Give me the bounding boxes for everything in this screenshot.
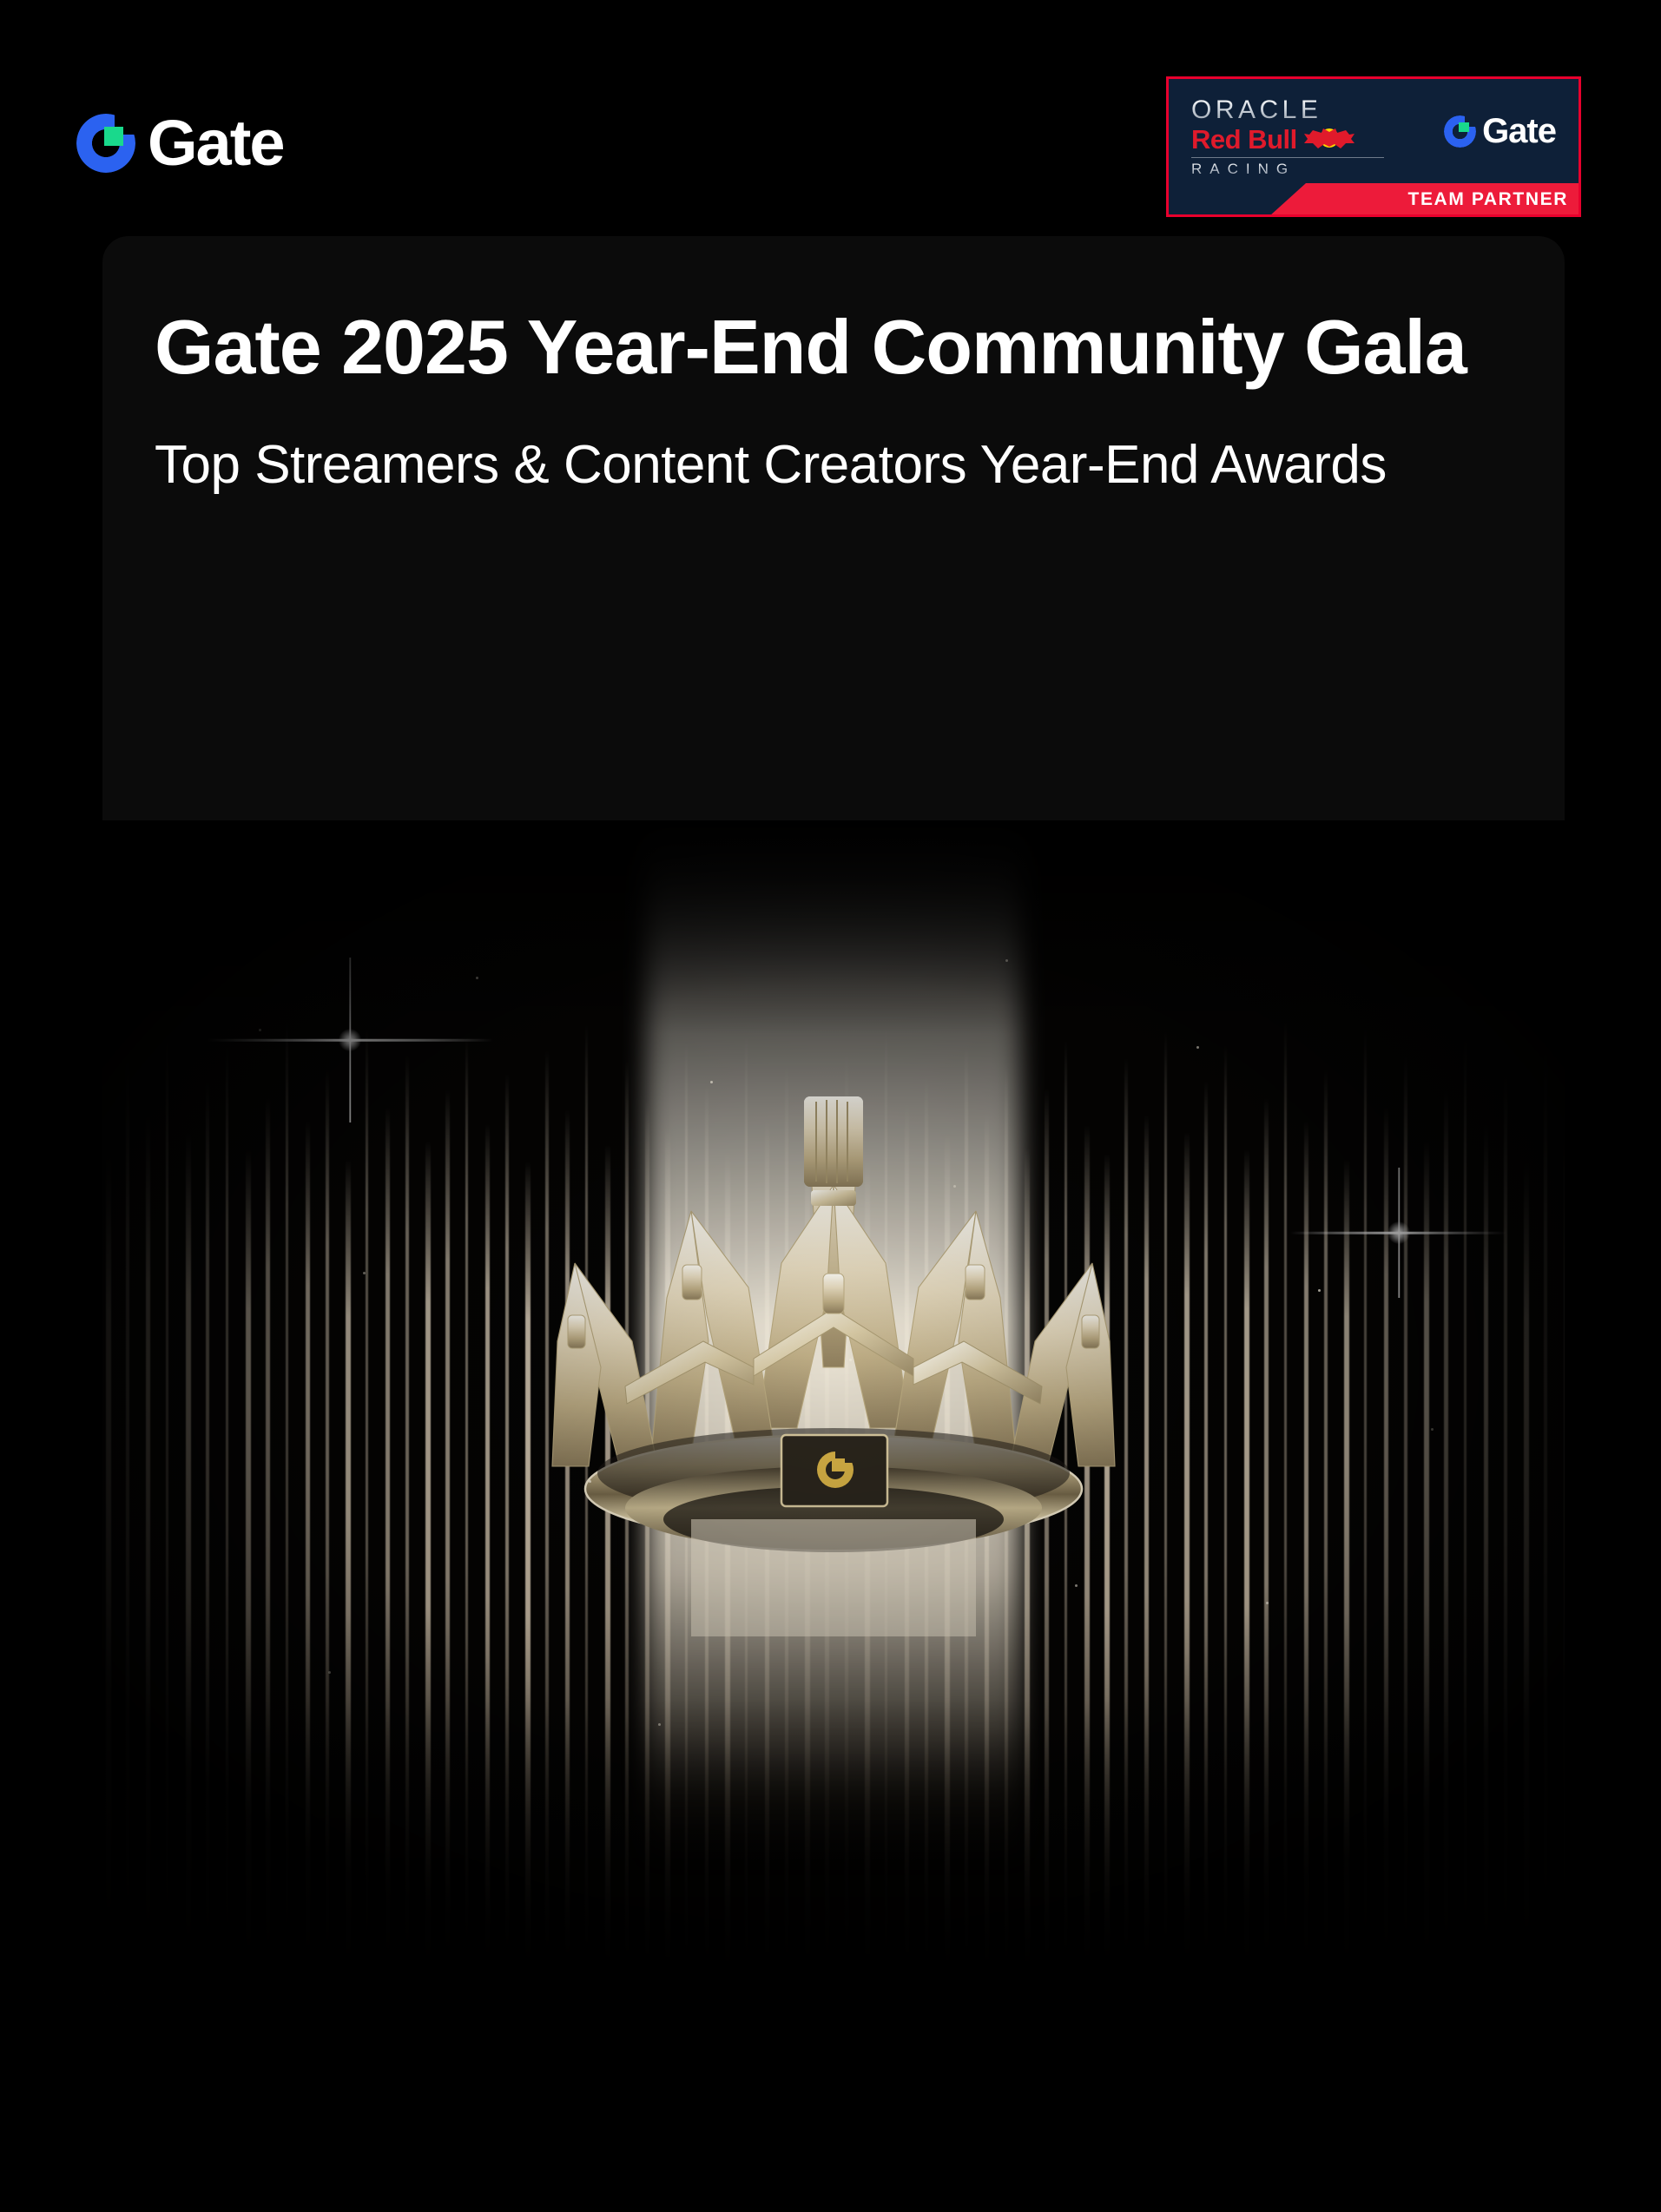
crown-trophy-icon — [521, 1081, 1146, 1636]
crown-hero-image — [102, 820, 1565, 2009]
page-subtitle: Top Streamers & Content Creators Year-En… — [102, 434, 1457, 497]
racing-wordmark: RACING — [1191, 161, 1384, 178]
red-bull-bulls-icon — [1302, 127, 1356, 151]
oracle-red-bull-racing-partner-badge: ORACLE Red Bull RACING Gate TEAM PART — [1166, 76, 1581, 217]
light-rod — [146, 969, 150, 2009]
event-card: Gate 2025 Year-End Community Gala Top St… — [102, 236, 1565, 2009]
red-bull-wordmark: Red Bull — [1191, 126, 1297, 153]
oracle-wordmark: ORACLE — [1191, 96, 1384, 124]
light-rod — [106, 1014, 111, 2009]
light-rod — [306, 976, 310, 2009]
light-rod — [1184, 989, 1190, 2009]
light-rod — [1384, 959, 1388, 2009]
red-bull-racing-lockup: ORACLE Red Bull RACING — [1191, 96, 1384, 178]
light-rod — [1424, 999, 1429, 2009]
red-bull-row: Red Bull — [1191, 126, 1384, 153]
light-rod — [1524, 1024, 1529, 2009]
dust-sparkle — [1196, 1046, 1199, 1049]
light-rod — [226, 888, 228, 2009]
dust-sparkle — [1318, 1289, 1321, 1292]
light-rod — [445, 939, 450, 2009]
light-rod — [1364, 868, 1367, 2009]
light-rod — [1304, 976, 1308, 2009]
light-rod — [366, 868, 368, 2009]
event-card-text: Gate 2025 Year-End Community Gala Top St… — [102, 236, 1565, 497]
light-rod — [1484, 979, 1488, 2009]
light-rod — [1344, 1020, 1349, 2009]
dust-sparkle — [1266, 1602, 1269, 1604]
logo-green-square-shape — [104, 127, 123, 146]
light-rod — [206, 929, 209, 2009]
light-rod — [1324, 916, 1328, 2009]
gate-logo-icon — [76, 114, 135, 173]
light-rod — [1164, 872, 1167, 2009]
badge-gate-logo: Gate — [1444, 114, 1556, 148]
dust-sparkle — [658, 1723, 661, 1726]
light-rod — [1544, 894, 1547, 2009]
light-rod — [126, 903, 129, 2009]
light-rod — [1224, 888, 1227, 2009]
gate-brand-logo[interactable]: Gate — [76, 111, 284, 175]
dust-sparkle — [1075, 1584, 1078, 1587]
dust-sparkle — [589, 1480, 591, 1483]
light-rod — [386, 959, 390, 2009]
page-header: Gate ORACLE Red Bull RACING Gate — [0, 0, 1661, 236]
dust-sparkle — [953, 1185, 956, 1188]
light-rod — [286, 859, 288, 2009]
light-rod — [1264, 949, 1269, 2009]
dust-sparkle — [1431, 1428, 1434, 1431]
dust-sparkle — [1005, 959, 1008, 962]
dust-sparkle — [476, 977, 478, 979]
light-rod — [186, 989, 191, 2009]
light-rod — [485, 979, 490, 2009]
light-rod — [1504, 921, 1507, 2009]
dust-sparkle — [363, 1272, 366, 1274]
light-rod — [505, 921, 509, 2009]
team-partner-label: TEAM PARTNER — [1408, 189, 1568, 210]
badge-gate-wordmark: Gate — [1482, 114, 1556, 148]
light-rod — [1244, 1009, 1249, 2009]
light-rod — [465, 879, 468, 2009]
team-partner-ribbon: TEAM PARTNER — [1269, 183, 1581, 216]
dust-sparkle — [328, 1671, 331, 1674]
dust-sparkle — [259, 1029, 261, 1031]
badge-divider — [1191, 157, 1384, 158]
gate-wordmark: Gate — [148, 111, 284, 175]
light-rod — [1464, 879, 1467, 2009]
crown-graphic — [521, 1081, 1146, 1636]
light-rod — [326, 916, 329, 2009]
light-rod — [266, 949, 270, 2009]
light-rod — [166, 872, 168, 2009]
dust-sparkle — [849, 1359, 852, 1361]
logo-green-square-shape — [1459, 122, 1469, 133]
light-rod — [1284, 859, 1287, 2009]
light-rod — [346, 1020, 351, 2009]
crown-gate-badge — [781, 1435, 887, 1506]
light-rod — [405, 899, 409, 2009]
light-rod — [246, 1009, 251, 2009]
light-rod — [1444, 939, 1448, 2009]
gate-logo-icon — [1444, 115, 1476, 148]
light-rod — [1204, 929, 1208, 2009]
page-title: Gate 2025 Year-End Community Gala — [102, 304, 1526, 391]
dust-sparkle — [710, 1081, 713, 1083]
light-rod — [1564, 963, 1565, 2009]
light-rod — [1404, 899, 1407, 2009]
light-rod — [425, 999, 431, 2009]
